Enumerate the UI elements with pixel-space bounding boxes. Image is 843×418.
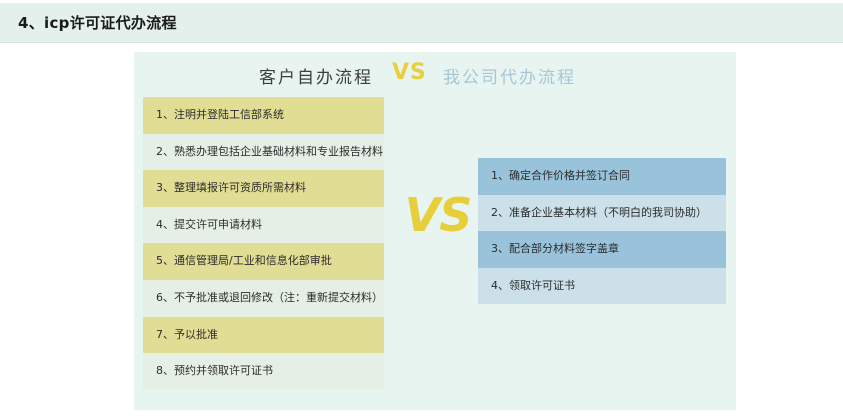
customer-process-step-7: 7、予以批准: [143, 317, 384, 354]
heading-right-label: 我公司代办流程: [443, 63, 576, 88]
agency-process-step-1: 1、确定合作价格并签订合同: [478, 158, 726, 195]
comparison-diagram-panel: 客户自办流程 VS 我公司代办流程 1、注明并登陆工信部系统2、熟悉办理包括企业…: [134, 52, 736, 410]
diagram-heading: 客户自办流程 VS 我公司代办流程: [134, 58, 736, 92]
customer-process-step-8: 8、预约并领取许可证书: [143, 353, 384, 390]
heading-left-label: 客户自办流程: [259, 63, 373, 88]
customer-process-step-4: 4、提交许可申请材料: [143, 207, 384, 244]
heading-vs-label: VS: [392, 60, 427, 85]
agency-process-step-2: 2、准备企业基本材料（不明白的我司协助）: [478, 195, 726, 232]
section-header-band: 4、icp许可证代办流程: [0, 3, 843, 42]
header-divider: [0, 42, 843, 43]
page-title: 4、icp许可证代办流程: [18, 12, 177, 33]
agency-process-step-4: 4、领取许可证书: [478, 268, 726, 305]
agency-process-step-3: 3、配合部分材料签字盖章: [478, 231, 726, 268]
customer-process-step-5: 5、通信管理局/工业和信息化部审批: [143, 243, 384, 280]
customer-self-process-column: 1、注明并登陆工信部系统2、熟悉办理包括企业基础材料和专业报告材料3、整理填报许…: [143, 97, 384, 390]
center-vs-label: VS: [396, 192, 480, 238]
customer-process-step-6: 6、不予批准或退回修改（注：重新提交材料）: [143, 280, 384, 317]
customer-process-step-2: 2、熟悉办理包括企业基础材料和专业报告材料: [143, 134, 384, 171]
customer-process-step-3: 3、整理填报许可资质所需材料: [143, 170, 384, 207]
customer-process-step-1: 1、注明并登陆工信部系统: [143, 97, 384, 134]
agency-process-column: 1、确定合作价格并签订合同2、准备企业基本材料（不明白的我司协助）3、配合部分材…: [478, 158, 726, 304]
